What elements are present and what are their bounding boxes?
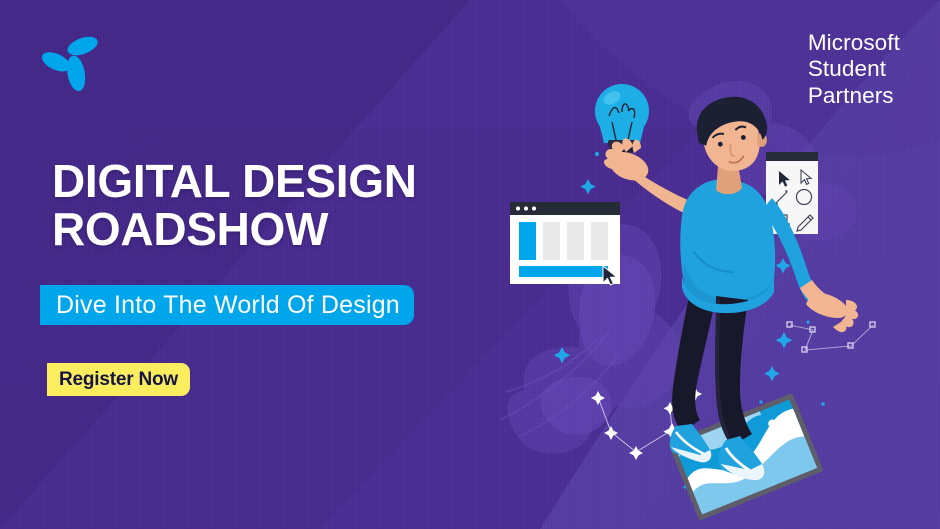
- browser-column-2: [543, 222, 560, 260]
- constellation-squares: [790, 325, 873, 350]
- browser-column-4: [591, 222, 608, 260]
- floating-designer-character: [604, 89, 858, 480]
- browser-column-3: [567, 222, 584, 260]
- illustration-group: [0, 0, 940, 529]
- browser-bottom-bar: [519, 266, 608, 277]
- browser-window-mockup: [510, 202, 620, 285]
- browser-column-1: [519, 222, 536, 260]
- banner-root: Microsoft Student Partners DIGITAL DESIG…: [0, 0, 940, 529]
- open-hand-right: [806, 292, 858, 332]
